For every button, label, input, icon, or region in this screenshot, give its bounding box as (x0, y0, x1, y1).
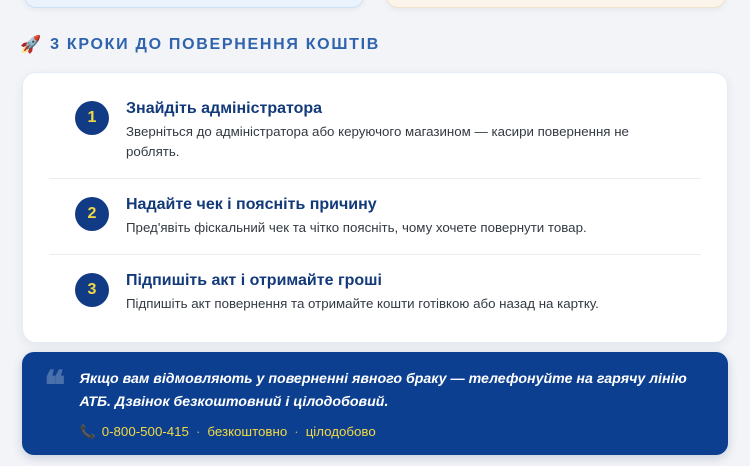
step-description: Підпишіть акт повернення та отримайте ко… (126, 294, 686, 314)
meta-hours-label: цілодобово (306, 424, 376, 439)
step-description: Пред'явіть фіскальний чек та чітко поясн… (126, 218, 686, 238)
step-title: Надайте чек і поясніть причину (126, 195, 701, 215)
step-number-badge: 1 (75, 101, 109, 135)
step-title: Знайдіть адміністратора (126, 99, 701, 119)
step-row: 1 Знайдіть адміністратора Зверніться до … (49, 83, 701, 179)
peek-card-right[interactable] (386, 0, 726, 8)
quote-icon: ❝ (44, 370, 66, 401)
peek-card-left[interactable] (24, 0, 364, 8)
step-description: Зверніться до адміністратора або керуючо… (126, 122, 686, 162)
step-number-badge: 2 (75, 197, 109, 231)
rocket-icon: 🚀 (20, 36, 41, 53)
meta-separator: · (195, 424, 201, 439)
callout-text: Якщо вам відмовляють у поверненні явного… (80, 368, 704, 414)
step-title: Підпишіть акт і отримайте гроші (126, 271, 701, 291)
callout-body: Якщо вам відмовляють у поверненні явного… (80, 368, 704, 439)
hotline-meta: 📞 0-800-500-415 · безкоштовно · цілодобо… (80, 424, 704, 439)
section-heading: 🚀 3 КРОКИ ДО ПОВЕРНЕННЯ КОШТІВ (20, 36, 380, 54)
page-title: 3 КРОКИ ДО ПОВЕРНЕННЯ КОШТІВ (50, 36, 380, 54)
top-peek-cards (0, 0, 750, 8)
step-body: Надайте чек і поясніть причину Пред'явіт… (126, 195, 701, 238)
steps-card: 1 Знайдіть адміністратора Зверніться до … (22, 72, 728, 343)
step-body: Підпишіть акт і отримайте гроші Підпишіт… (126, 271, 701, 314)
step-body: Знайдіть адміністратора Зверніться до ад… (126, 99, 701, 162)
meta-separator: · (293, 424, 299, 439)
meta-free-label: безкоштовно (207, 424, 287, 439)
step-row: 2 Надайте чек і поясніть причину Пред'яв… (49, 179, 701, 255)
step-number-badge: 3 (75, 273, 109, 307)
phone-icon: 📞 (80, 425, 96, 438)
step-row: 3 Підпишіть акт і отримайте гроші Підпиш… (49, 255, 701, 330)
hotline-callout: ❝ Якщо вам відмовляють у поверненні явно… (22, 352, 728, 455)
hotline-phone-link[interactable]: 0-800-500-415 (102, 424, 189, 439)
